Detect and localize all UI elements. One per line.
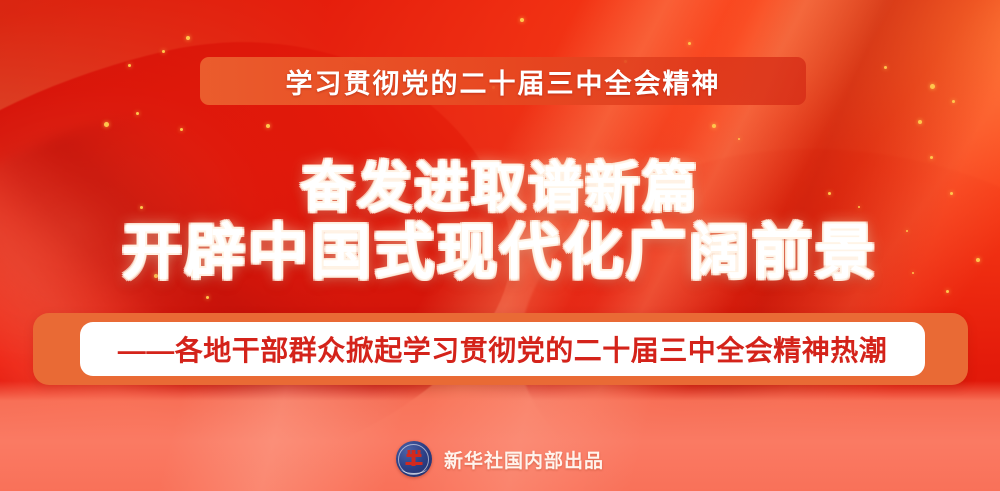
main-title: 奋发进取谱新篇 开辟中国式现代化广阔前景 bbox=[0, 160, 1000, 285]
subtitle-box: ——各地干部群众掀起学习贯彻党的二十届三中全会精神热潮 bbox=[80, 322, 925, 376]
poster-canvas: 学习贯彻党的二十届三中全会精神 奋发进取谱新篇 开辟中国式现代化广阔前景 ——各… bbox=[0, 0, 1000, 491]
top-banner-text: 学习贯彻党的二十届三中全会精神 bbox=[286, 62, 721, 101]
footer: 新华社国内部出品 bbox=[0, 441, 1000, 477]
main-title-line-2: 开辟中国式现代化广阔前景 bbox=[0, 222, 1000, 284]
xinhua-news-agency-logo-icon bbox=[396, 441, 432, 477]
top-banner: 学习贯彻党的二十届三中全会精神 bbox=[200, 57, 806, 105]
footer-text: 新华社国内部出品 bbox=[444, 446, 604, 473]
subtitle-text: ——各地干部群众掀起学习贯彻党的二十届三中全会精神热潮 bbox=[118, 329, 888, 369]
main-title-line-1: 奋发进取谱新篇 bbox=[0, 160, 1000, 216]
